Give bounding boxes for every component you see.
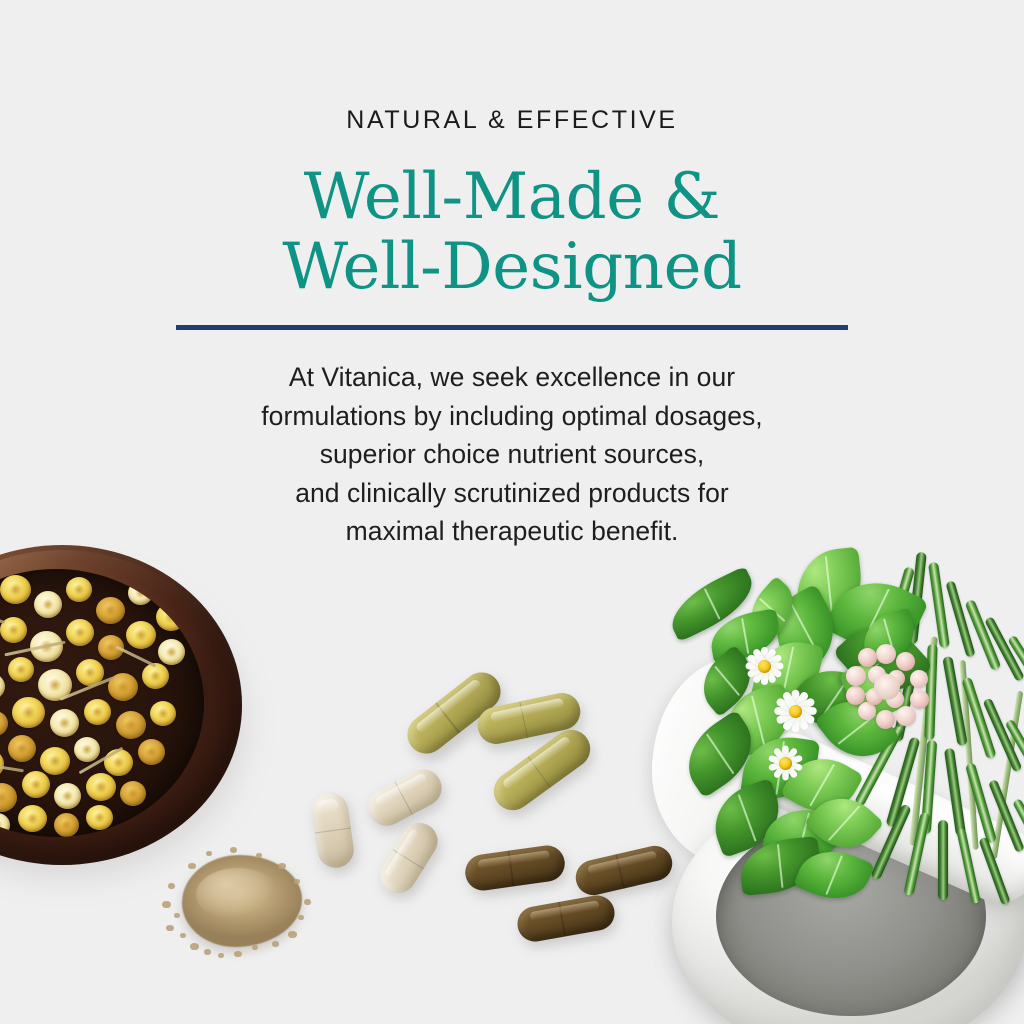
body-line-3: superior choice nutrient sources, [0,435,1024,474]
mortar-pestle-herbs-image [648,540,1024,1024]
daisy-flower [770,686,820,736]
headline-line-2: Well-Designed [0,233,1024,303]
chamomile-bowl-image [0,545,254,875]
body-line-4: and clinically scrutinized products for [0,474,1024,513]
banner-canvas: NATURAL & EFFECTIVE Well-Made & Well-Des… [0,0,1024,1024]
daisy-flower [742,644,786,688]
body-line-2: formulations by including optimal dosage… [0,397,1024,436]
divider-rule [176,325,848,330]
body-line-1: At Vitanica, we seek excellence in our [0,358,1024,397]
powder-pile [182,855,302,947]
eyebrow-text: NATURAL & EFFECTIVE [0,108,1024,133]
body-line-5: maximal therapeutic benefit. [0,512,1024,551]
daisy-flower [764,742,806,784]
headline: Well-Made & Well-Designed [0,163,1024,303]
headline-line-1: Well-Made & [0,163,1024,233]
herbal-powder-image [160,845,325,965]
body-copy: At Vitanica, we seek excellence in our f… [0,358,1024,551]
cluster-flower [844,644,930,730]
